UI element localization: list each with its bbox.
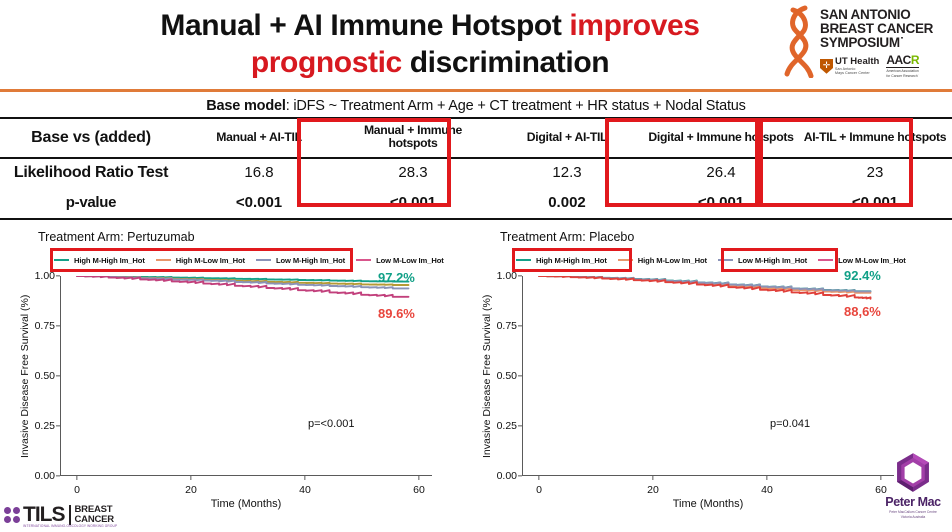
legend-swatch-icon	[356, 259, 371, 262]
legend-swatch-icon	[54, 259, 69, 262]
table-header-row: Base vs (added) Manual + AI-TIL Manual +…	[0, 118, 952, 158]
petermac-sub-2: Victoria Australia	[901, 515, 926, 519]
page-title: Manual + AI Immune Hotspot improves prog…	[80, 2, 780, 88]
title-text-black-2: discrimination	[402, 46, 609, 79]
legend-item-high-m-high[interactable]: High M-High Im_Hot	[516, 256, 607, 265]
x-tick-label: 20	[185, 484, 197, 496]
y-tick-label: 0.50	[35, 370, 55, 382]
tils-logo: TILS BREAST CANCER INTERNATIONAL IMMUNO-…	[4, 500, 124, 530]
y-tick-label: 0.00	[497, 470, 517, 482]
y-axis-label-right: Invasive Disease Free Survival (%)	[480, 276, 494, 476]
pvalue-2: <0.001	[336, 187, 490, 219]
pvalue-annotation-right: p=0.041	[770, 418, 810, 430]
ut-health-logo: UT Health San Antonio Mays Cancer Center	[820, 57, 879, 76]
ut-health-label: UT Health	[835, 57, 879, 67]
results-table-section: Base model: iDFS ~ Treatment Arm + Age +…	[0, 96, 952, 220]
pvalue-5: <0.001	[798, 187, 952, 219]
tils-divider	[69, 505, 71, 525]
x-tick-label: 0	[74, 484, 80, 496]
table-row: p-value <0.001 <0.001 0.002 <0.001 <0.00…	[0, 187, 952, 219]
pvalue-1: <0.001	[182, 187, 336, 219]
end-label-teal-left: 97.2%	[378, 270, 415, 285]
x-tick-mark	[76, 476, 77, 480]
y-tick-label: 1.00	[497, 270, 517, 282]
slide-canvas: Manual + AI Immune Hotspot improves prog…	[0, 0, 952, 532]
ut-shield-icon	[820, 59, 833, 74]
km-chart-pertuzumab: Treatment Arm: Pertuzumab High M-High Im…	[10, 228, 462, 524]
tils-wordmark: TILS	[23, 506, 65, 525]
end-label-red-right: 88,6%	[844, 304, 881, 319]
title-text-red-2: prognostic	[251, 46, 402, 79]
y-tick-label: 0.75	[35, 320, 55, 332]
sabcs-ribbon-icon	[783, 4, 817, 76]
lrt-value-4: 26.4	[644, 158, 798, 187]
legend-item-low-m-low[interactable]: Low M-Low Im_Hot	[356, 256, 444, 265]
lrt-value-1: 16.8	[182, 158, 336, 187]
legend-swatch-icon	[718, 259, 733, 262]
base-model-caption: Base model: iDFS ~ Treatment Arm + Age +…	[0, 96, 952, 117]
aacr-logo: AACR American Association for Cancer Res…	[886, 54, 919, 78]
y-tick-label: 1.00	[35, 270, 55, 282]
legend-label: High M-Low Im_Hot	[176, 256, 245, 265]
petermac-sub-1: Peter MacCallum Cancer Centre	[889, 510, 937, 514]
base-model-rest: : iDFS ~ Treatment Arm + Age + CT treatm…	[286, 98, 746, 114]
legend-label: Low M-High Im_Hot	[276, 256, 345, 265]
table-header-cell-4: Digital + Immune hotspots	[644, 118, 798, 158]
table-row: Likelihood Ratio Test 16.8 28.3 12.3 26.…	[0, 158, 952, 187]
km-curves-right	[522, 276, 894, 476]
km-curve	[539, 276, 870, 299]
x-tick-mark	[766, 476, 767, 480]
row-label-pvalue: p-value	[0, 187, 182, 219]
end-label-red-left: 89.6%	[378, 306, 415, 321]
x-tick-mark	[538, 476, 539, 480]
y-tick-label: 0.25	[497, 420, 517, 432]
ut-health-sub-2: Mays Cancer Center	[835, 71, 879, 75]
base-model-bold: Base model	[206, 98, 285, 114]
pvalue-4: <0.001	[644, 187, 798, 219]
table-header-cell-2: Manual + Immune hotspots	[336, 118, 490, 158]
sabcs-partner-logos: UT Health San Antonio Mays Cancer Center…	[820, 54, 933, 78]
sabcs-logo: SAN ANTONIO BREAST CANCER SYMPOSIUM˙ UT …	[783, 4, 949, 84]
legend-item-low-m-low[interactable]: Low M-Low Im_Hot	[818, 256, 906, 265]
km-chart-placebo: Treatment Arm: Placebo High M-High Im_Ho…	[472, 228, 924, 524]
legend-swatch-icon	[256, 259, 271, 262]
chart-legend-right: High M-High Im_Hot High M-Low Im_Hot Low…	[516, 252, 917, 268]
legend-label: Low M-High Im_Hot	[738, 256, 807, 265]
aacr-sub-2: for Cancer Research˙	[886, 74, 919, 78]
x-tick-mark	[652, 476, 653, 480]
x-tick-label: 40	[761, 484, 773, 496]
petermac-logo: Peter Mac Peter MacCallum Cancer Centre …	[877, 452, 949, 528]
legend-swatch-icon	[156, 259, 171, 262]
sabcs-line-2: BREAST CANCER	[820, 22, 933, 36]
pvalue-3: 0.002	[490, 187, 644, 219]
header-divider	[0, 89, 952, 92]
plot-area-left: 0.00 0.25 0.50 0.75 1.00 0 20 40 60 p=<0…	[60, 276, 432, 476]
title-line-1: Manual + AI Immune Hotspot improves	[160, 8, 699, 45]
pvalue-annotation-left: p=<0.001	[308, 418, 355, 430]
sabcs-line-3: SYMPOSIUM˙	[820, 36, 933, 50]
legend-item-high-m-low[interactable]: High M-Low Im_Hot	[156, 256, 245, 265]
x-tick-mark	[190, 476, 191, 480]
plot-area-right: 0.00 0.25 0.50 0.75 1.00 0 20 40 60 p=0.…	[522, 276, 894, 476]
lrt-value-5: 23	[798, 158, 952, 187]
legend-item-low-m-high[interactable]: Low M-High Im_Hot	[256, 256, 345, 265]
y-tick-label: 0.25	[35, 420, 55, 432]
y-tick-label: 0.75	[497, 320, 517, 332]
legend-item-high-m-high[interactable]: High M-High Im_Hot	[54, 256, 145, 265]
x-tick-label: 40	[299, 484, 311, 496]
row-label-lrt: Likelihood Ratio Test	[0, 158, 182, 187]
title-line-2: prognostic discrimination	[251, 45, 609, 82]
x-tick-label: 60	[413, 484, 425, 496]
lrt-value-2: 28.3	[336, 158, 490, 187]
chart-title-left: Treatment Arm: Pertuzumab	[38, 230, 195, 244]
aacr-label: AACR	[886, 54, 919, 66]
y-tick-label: 0.00	[35, 470, 55, 482]
x-tick-label: 0	[536, 484, 542, 496]
table-header-cell-3: Digital + AI-TIL	[490, 118, 644, 158]
legend-label: High M-High Im_Hot	[536, 256, 607, 265]
x-tick-mark	[418, 476, 419, 480]
table-header-cell-0: Base vs (added)	[0, 118, 182, 158]
legend-label: High M-High Im_Hot	[74, 256, 145, 265]
legend-label: High M-Low Im_Hot	[638, 256, 707, 265]
chart-title-right: Treatment Arm: Placebo	[500, 230, 634, 244]
results-table: Base vs (added) Manual + AI-TIL Manual +…	[0, 117, 952, 220]
legend-label: Low M-Low Im_Hot	[838, 256, 906, 265]
petermac-wordmark: Peter Mac	[885, 495, 940, 509]
legend-item-high-m-low[interactable]: High M-Low Im_Hot	[618, 256, 707, 265]
y-tick-label: 0.50	[497, 370, 517, 382]
table-header-cell-1: Manual + AI-TIL	[182, 118, 336, 158]
tils-breast-cancer: BREAST CANCER	[75, 505, 114, 525]
aacr-divider	[886, 67, 919, 68]
tils-tagline: INTERNATIONAL IMMUNO-ONCOLOGY WORKING GR…	[23, 524, 117, 528]
sabcs-wordmark: SAN ANTONIO BREAST CANCER SYMPOSIUM˙ UT …	[820, 4, 933, 78]
table-header-cell-5: AI-TIL + Immune hotspots	[798, 118, 952, 158]
x-tick-mark	[304, 476, 305, 480]
legend-label: Low M-Low Im_Hot	[376, 256, 444, 265]
legend-swatch-icon	[618, 259, 633, 262]
legend-swatch-icon	[818, 259, 833, 262]
km-curves-left	[60, 276, 432, 476]
x-tick-label: 20	[647, 484, 659, 496]
chart-legend-left: High M-High Im_Hot High M-Low Im_Hot Low…	[54, 252, 455, 268]
x-axis-label-right: Time (Months)	[522, 498, 894, 510]
legend-item-low-m-high[interactable]: Low M-High Im_Hot	[718, 256, 807, 265]
tils-dots-icon	[4, 507, 20, 523]
y-axis-label-left: Invasive Disease Free Survival (%)	[18, 276, 32, 476]
title-text-black-1: Manual + AI Immune Hotspot	[160, 9, 569, 42]
petermac-hexagon-icon	[892, 452, 934, 494]
legend-swatch-icon	[516, 259, 531, 262]
sabcs-line-1: SAN ANTONIO	[820, 8, 933, 22]
end-label-teal-right: 92.4%	[844, 268, 881, 283]
lrt-value-3: 12.3	[490, 158, 644, 187]
title-text-red-1: improves	[569, 9, 699, 42]
